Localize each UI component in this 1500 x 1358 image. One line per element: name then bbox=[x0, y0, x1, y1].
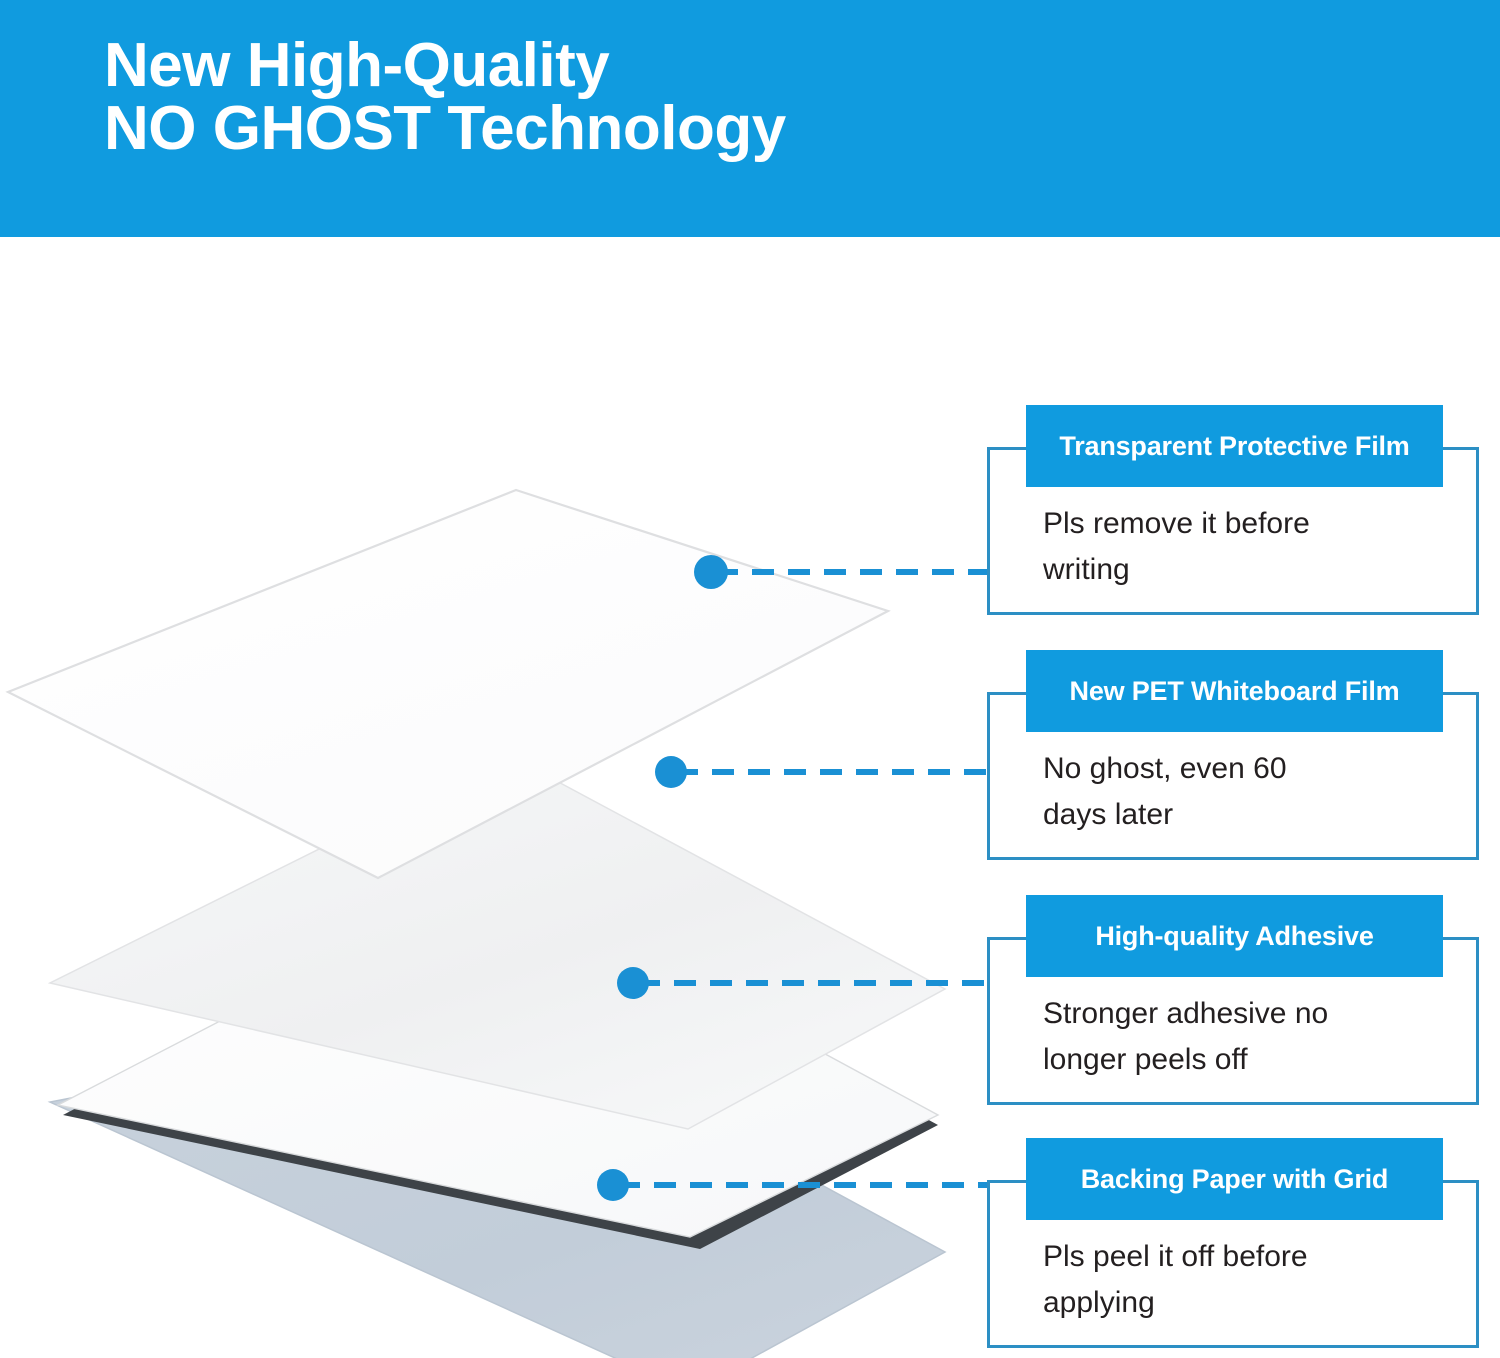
callout-title-tab: High-quality Adhesive bbox=[1026, 895, 1443, 977]
layer-protective-film bbox=[8, 490, 888, 878]
callout-description: Stronger adhesive no longer peels off bbox=[1043, 991, 1443, 1082]
callout-title-tab: Transparent Protective Film bbox=[1026, 405, 1443, 487]
callout-title-tab: Backing Paper with Grid bbox=[1026, 1138, 1443, 1220]
header-banner: New High-Quality NO GHOST Technology bbox=[0, 0, 1500, 237]
callout-description: Pls peel it off before applying bbox=[1043, 1234, 1443, 1325]
callout-title: High-quality Adhesive bbox=[1095, 921, 1373, 952]
layer-stack-illustration bbox=[0, 237, 1000, 1358]
callout-title: Backing Paper with Grid bbox=[1081, 1164, 1388, 1195]
page-title: New High-Quality NO GHOST Technology bbox=[104, 34, 786, 160]
callout-title: New PET Whiteboard Film bbox=[1070, 676, 1400, 707]
callout-title-tab: New PET Whiteboard Film bbox=[1026, 650, 1443, 732]
callout-description: No ghost, even 60 days later bbox=[1043, 746, 1443, 837]
callout-title: Transparent Protective Film bbox=[1059, 431, 1409, 462]
callout-description: Pls remove it before writing bbox=[1043, 501, 1443, 592]
